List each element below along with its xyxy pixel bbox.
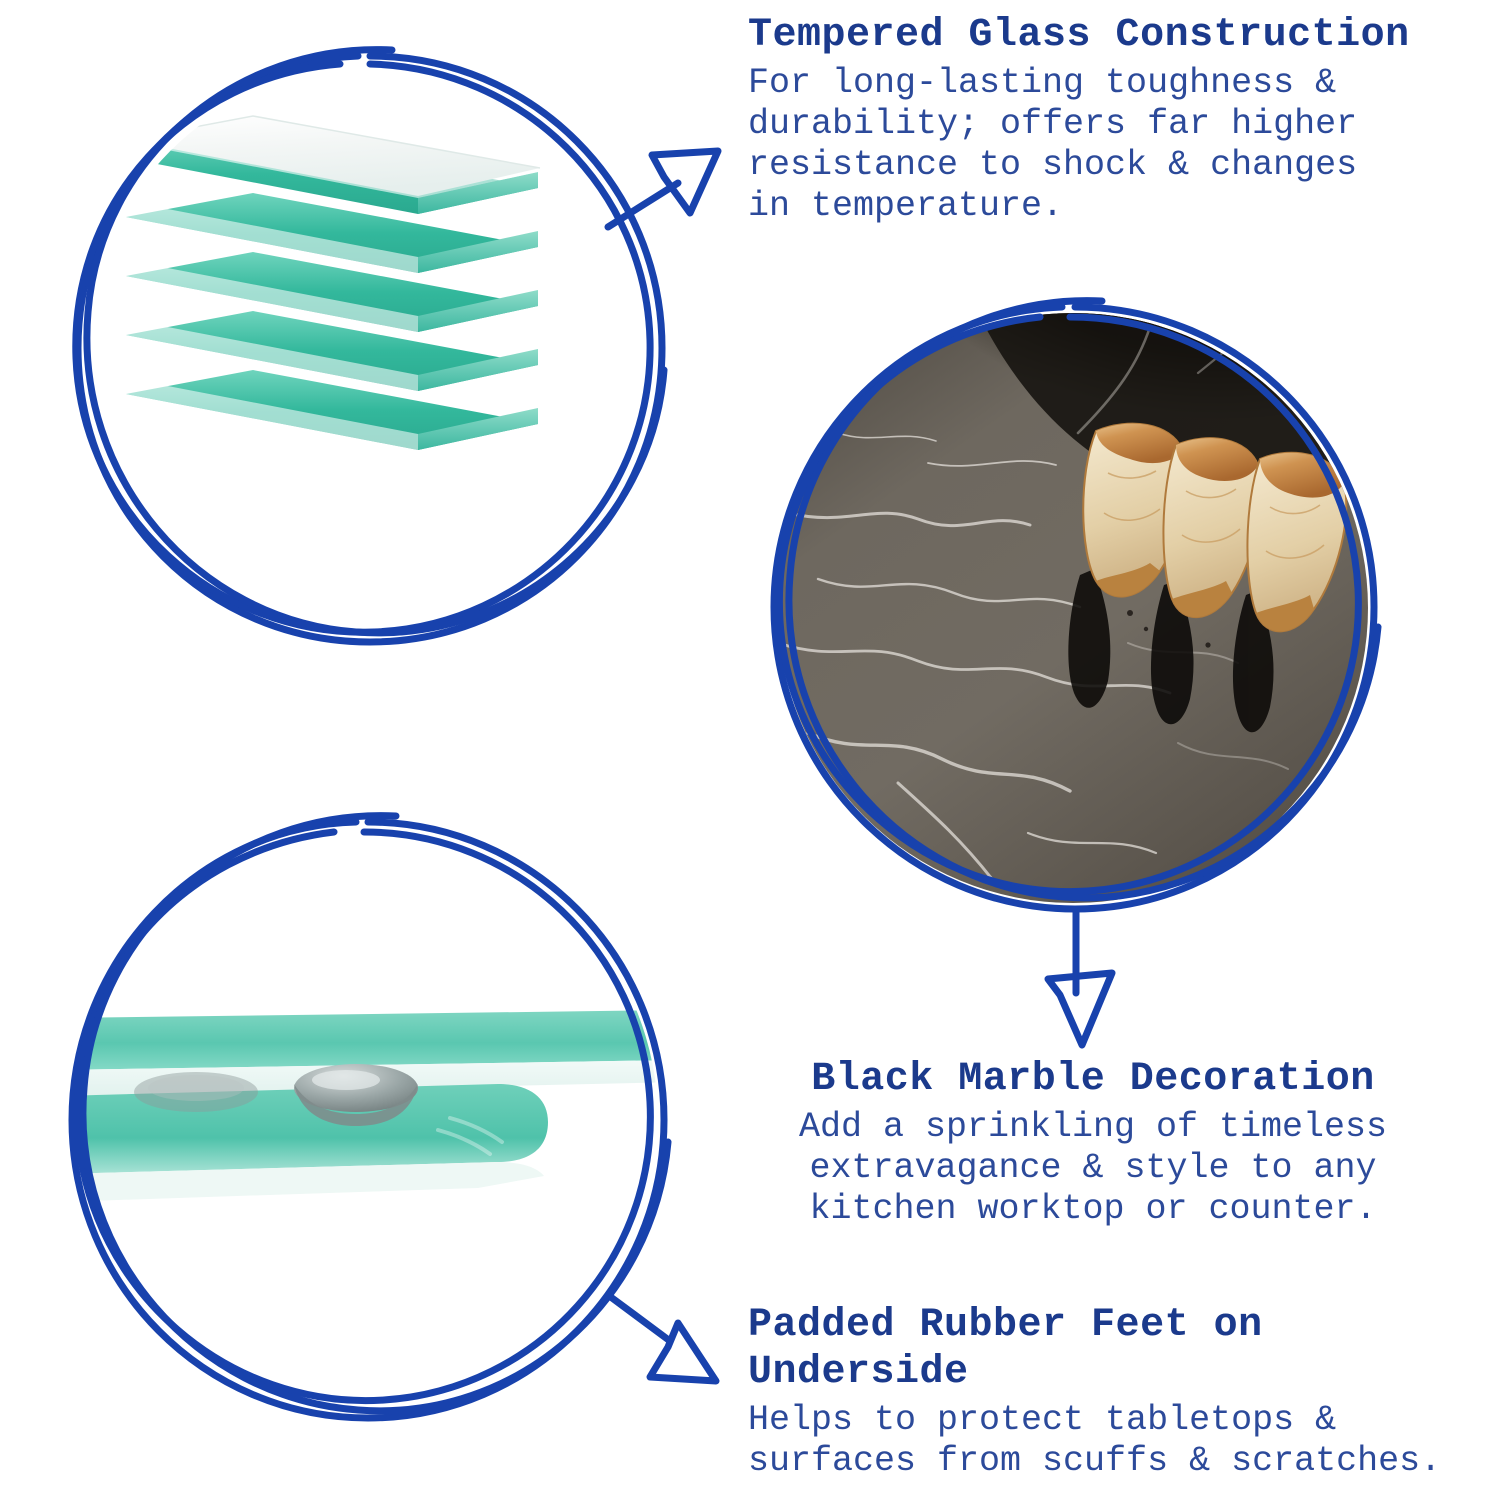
glass-edge-rubber-foot-photo [78, 830, 658, 1410]
glass-edge-illustration [78, 830, 658, 1410]
black-marble-photo [778, 313, 1368, 903]
stacked-glass-illustration [88, 68, 652, 632]
feature-title-rubber-feet: Padded Rubber Feet on Underside [748, 1302, 1468, 1396]
feature-body-black-marble: Add a sprinkling of timeless extravaganc… [748, 1107, 1438, 1230]
feature-text-black-marble: Black Marble Decoration Add a sprinkling… [748, 1056, 1438, 1230]
feature-title-black-marble: Black Marble Decoration [748, 1056, 1438, 1103]
feature-image-panel-black-marble [740, 275, 1410, 945]
feature-text-tempered-glass: Tempered Glass Construction For long-las… [748, 12, 1448, 227]
feature-body-rubber-feet: Helps to protect tabletops & surfaces fr… [748, 1400, 1468, 1482]
marble-board-illustration [778, 313, 1368, 903]
feature-body-tempered-glass: For long-lasting toughness & durability;… [748, 63, 1448, 227]
stacked-glass-photo [88, 68, 652, 632]
feature-title-tempered-glass: Tempered Glass Construction [748, 12, 1448, 59]
feature-image-panel-rubber-feet [38, 790, 698, 1450]
feature-text-rubber-feet: Padded Rubber Feet on Underside Helps to… [748, 1302, 1468, 1482]
infographic-canvas: Tempered Glass Construction For long-las… [0, 0, 1500, 1500]
feature-image-panel-tempered-glass [40, 20, 700, 680]
